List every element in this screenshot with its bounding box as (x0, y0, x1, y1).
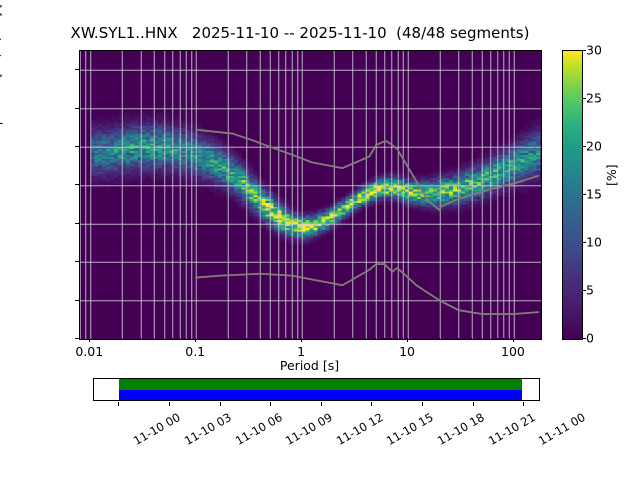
x-tick-label: 10 (399, 344, 415, 359)
y-tick-mark (75, 108, 79, 109)
x-tick-mark-minor (471, 338, 472, 340)
x-tick-mark-minor (227, 338, 228, 340)
colorbar-tick-mark (582, 146, 586, 147)
x-tick-mark-minor (375, 338, 376, 340)
colorbar-tick-label: 20 (586, 139, 602, 154)
x-tick-mark-minor (179, 338, 180, 340)
colorbar (562, 50, 583, 340)
x-tick-mark-major (195, 338, 196, 342)
timeline-tick-mark (473, 402, 474, 406)
x-tick-mark-minor (190, 338, 191, 340)
colorbar-tick-mark (582, 194, 586, 195)
timeline-tick-label: 11-10 18 (435, 410, 487, 448)
colorbar-tick-label: 0 (586, 331, 594, 346)
timeline-tick-label: 11-11 00 (536, 410, 588, 448)
colorbar-tick-mark (582, 338, 586, 339)
x-tick-label: 0.1 (185, 344, 205, 359)
y-tick-mark (75, 146, 79, 147)
x-tick-mark-minor (259, 338, 260, 340)
x-tick-mark-minor (140, 338, 141, 340)
colorbar-tick-label: 5 (586, 283, 594, 298)
x-tick-mark-minor (246, 338, 247, 340)
x-tick-mark-major (89, 338, 90, 342)
x-tick-mark-minor (402, 338, 403, 340)
y-tick-mark (75, 300, 79, 301)
timeline-tick-mark (371, 402, 372, 406)
x-tick-mark-minor (365, 338, 366, 340)
timeline-tick-label: 11-10 03 (181, 410, 233, 448)
y-axis-label: Amplitude [m2/s4/Hz] [dB] (0, 0, 3, 194)
x-tick-mark-major (407, 338, 408, 342)
x-tick-mark-minor (84, 338, 85, 340)
colorbar-tick-mark (582, 50, 586, 51)
y-tick-mark (75, 184, 79, 185)
x-tick-mark-major (513, 338, 514, 342)
timeline-tick-label: 11-10 21 (485, 410, 537, 448)
x-tick-label: 100 (501, 344, 525, 359)
x-tick-mark-minor (497, 338, 498, 340)
x-tick-label: 0.01 (75, 344, 103, 359)
colorbar-label: [%] (604, 146, 619, 186)
timeline-tick-label: 11-10 06 (232, 410, 284, 448)
timeline-tick-mark (220, 402, 221, 406)
ppsd-figure: XW.SYL1..HNX 2025-11-10 -- 2025-11-10 (4… (0, 0, 640, 480)
colorbar-tick-label: 15 (586, 187, 602, 202)
coverage-bar-upper (119, 379, 522, 390)
x-tick-mark-major (301, 338, 302, 342)
coverage-bar-lower (119, 390, 522, 401)
ppsd-density-canvas (80, 51, 541, 339)
x-tick-mark-minor (291, 338, 292, 340)
x-tick-mark-minor (391, 338, 392, 340)
x-tick-label: 1 (297, 344, 305, 359)
colorbar-tick-mark (582, 98, 586, 99)
colorbar-tick-mark (582, 242, 586, 243)
x-tick-mark-minor (503, 338, 504, 340)
x-tick-mark-minor (296, 338, 297, 340)
x-tick-mark-minor (79, 338, 80, 340)
timeline-tick-mark (118, 402, 119, 406)
timeline-tick-mark (270, 402, 271, 406)
x-tick-mark-minor (153, 338, 154, 340)
timeline-tick-label: 11-10 09 (283, 410, 335, 448)
x-tick-mark-minor (333, 338, 334, 340)
x-tick-mark-minor (397, 338, 398, 340)
x-tick-mark-minor (384, 338, 385, 340)
colorbar-tick-label: 25 (586, 91, 602, 106)
timeline-tick-label: 11-10 00 (131, 410, 183, 448)
x-tick-mark-minor (352, 338, 353, 340)
x-tick-mark-minor (172, 338, 173, 340)
ppsd-plot-area[interactable] (79, 50, 542, 340)
colorbar-tick-label: 30 (586, 43, 602, 58)
x-tick-mark-minor (481, 338, 482, 340)
x-tick-mark-minor (269, 338, 270, 340)
timeline-tick-label: 11-10 15 (384, 410, 436, 448)
x-tick-mark-minor (489, 338, 490, 340)
y-tick-mark (75, 223, 79, 224)
coverage-timeline[interactable] (93, 378, 540, 401)
colorbar-tick-mark (582, 290, 586, 291)
x-tick-mark-minor (285, 338, 286, 340)
x-tick-mark-minor (439, 338, 440, 340)
x-tick-mark-minor (163, 338, 164, 340)
timeline-tick-mark (321, 402, 322, 406)
x-tick-mark-minor (508, 338, 509, 340)
colorbar-tick-label: 10 (586, 235, 602, 250)
figure-title: XW.SYL1..HNX 2025-11-10 -- 2025-11-10 (4… (0, 24, 600, 42)
timeline-tick-label: 11-10 12 (333, 410, 385, 448)
timeline-tick-mark (523, 402, 524, 406)
y-tick-mark (75, 69, 79, 70)
x-tick-mark-minor (458, 338, 459, 340)
timeline-tick-mark (169, 402, 170, 406)
y-tick-mark (75, 261, 79, 262)
timeline-tick-mark (422, 402, 423, 406)
x-tick-mark-minor (278, 338, 279, 340)
x-tick-mark-minor (121, 338, 122, 340)
x-tick-mark-minor (185, 338, 186, 340)
x-axis-label: Period [s] (79, 358, 540, 373)
